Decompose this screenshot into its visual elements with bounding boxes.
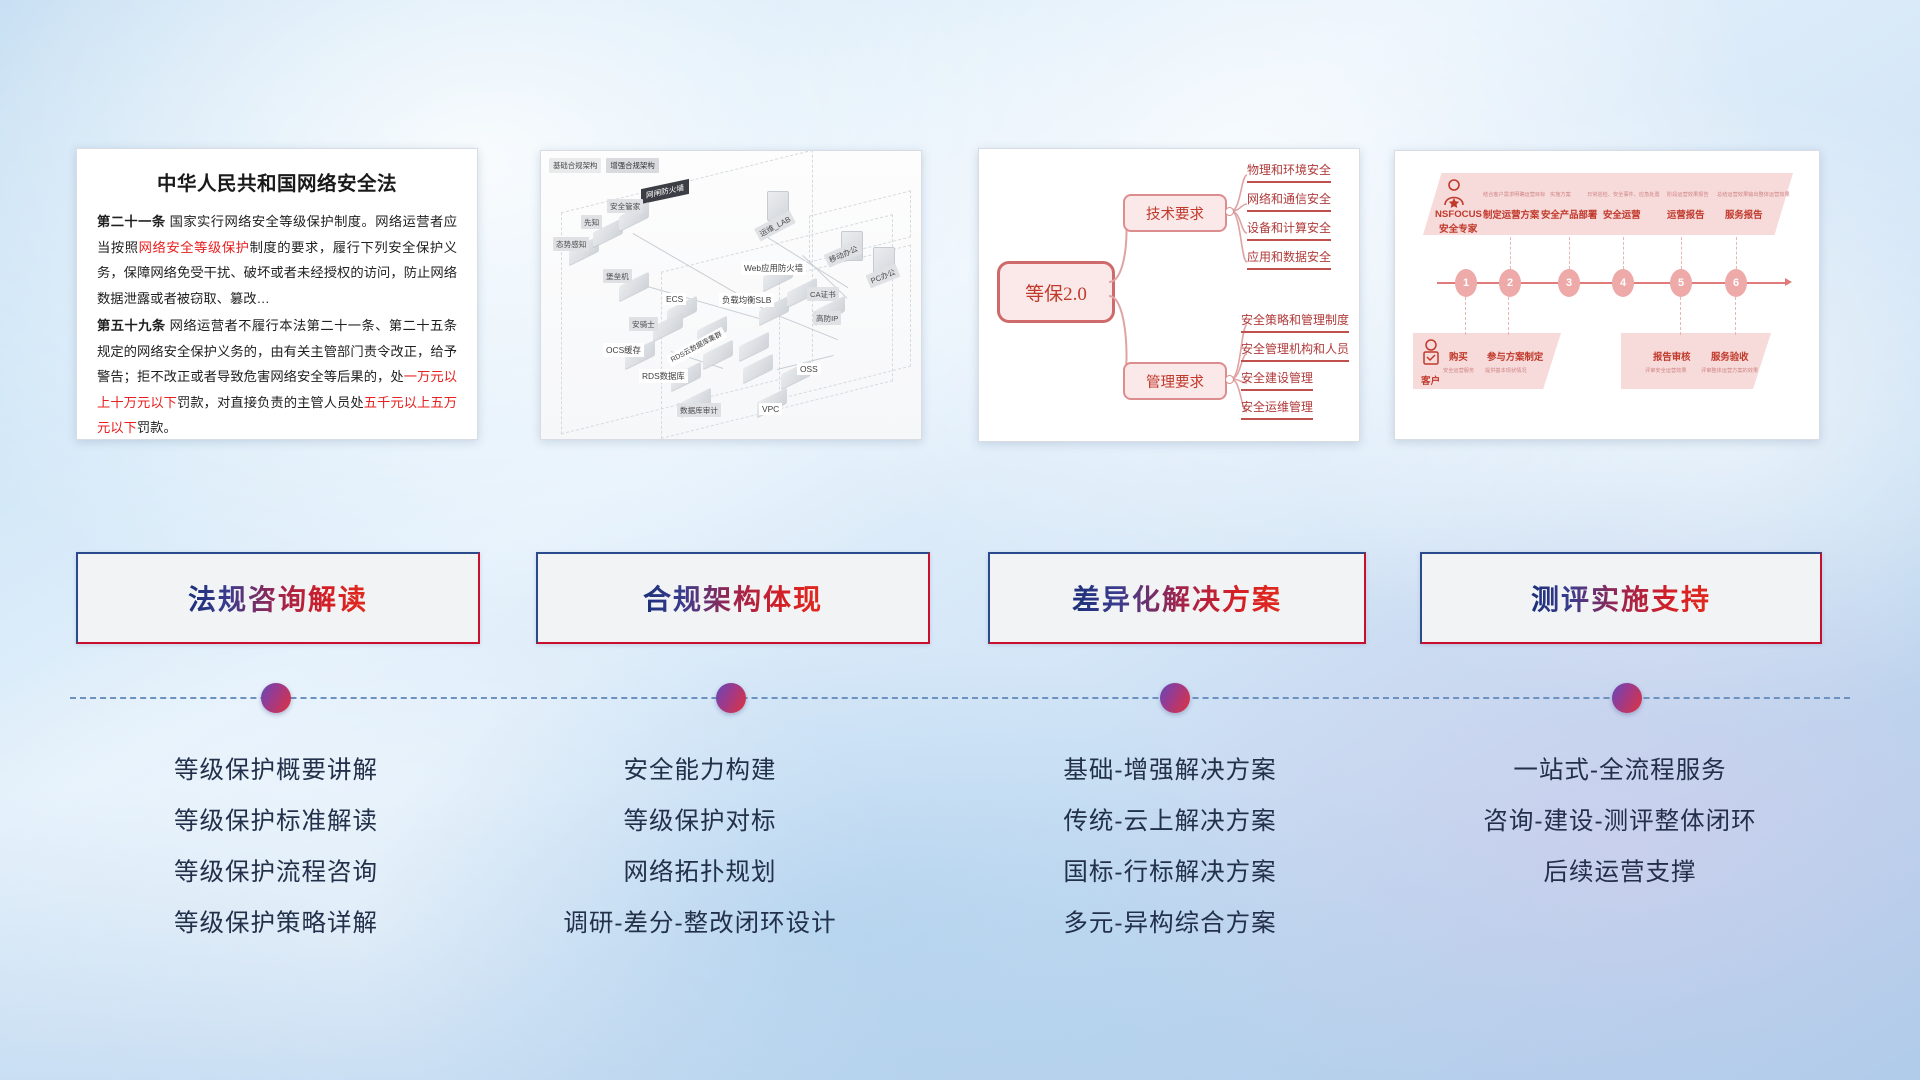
section-title-row: 法规咨询解读 合规架构体现 差异化解决方案 测评实施支持 — [0, 552, 1920, 644]
architecture-label-highdef-ip: 高防IP — [813, 311, 841, 325]
architecture-node-cluster-b — [703, 347, 733, 366]
list-item: 网络拓扑规划 — [470, 847, 930, 898]
mindmap-collapse-dot-technical[interactable] — [1225, 207, 1234, 216]
top-item-5-label: 服务报告 — [1725, 207, 1763, 221]
top-item-3-sub: 日常巡检、安全事件、应急处置 — [1587, 191, 1660, 198]
law-title: 中华人民共和国网络安全法 — [97, 167, 457, 196]
top-item-2-label: 安全产品部署 — [1541, 207, 1597, 221]
mindmap-leaf-ops-mgmt: 安全运维管理 — [1241, 398, 1313, 420]
timeline-step-1[interactable]: 1 — [1455, 269, 1477, 297]
section-title-box-4[interactable]: 测评实施支持 — [1420, 552, 1822, 644]
nsfocus-timeline: NSFOCUS 安全专家 客户 1 2 3 4 5 6 — [1395, 151, 1819, 439]
timeline-arrow-head — [1785, 278, 1792, 286]
expert-role-line2: 安全专家 — [1439, 221, 1477, 235]
list-item: 一站式-全流程服务 — [1400, 745, 1840, 796]
timeline-dash-3 — [1569, 237, 1570, 269]
timeline-marker-1[interactable] — [261, 683, 291, 713]
section-items-row: 等级保护概要讲解 等级保护标准解读 等级保护流程咨询 等级保护策略详解 安全能力… — [0, 745, 1920, 1045]
bottom-item-4-label: 服务验收 — [1711, 349, 1749, 363]
timeline-dash-b6 — [1735, 297, 1736, 335]
architecture-tab-basic[interactable]: 基础合规架构 — [549, 158, 601, 173]
timeline-step-5[interactable]: 5 — [1670, 269, 1692, 297]
top-item-4-sub: 阶段运营效果报告 — [1667, 191, 1709, 198]
section-title-4: 测评实施支持 — [1531, 578, 1711, 618]
architecture-label-situational: 态势感知 — [553, 237, 589, 251]
mindmap-leaf-network-comm: 网络和通信安全 — [1247, 190, 1331, 212]
mindmap-leaf-policy-system: 安全策略和管理制度 — [1241, 311, 1349, 333]
top-item-1-sub: 结合客户需求明确运营目标 — [1483, 191, 1545, 198]
card-cybersecurity-law[interactable]: 中华人民共和国网络安全法 第二十一条 国家实行网络安全等级保护制度。网络运营者应… — [76, 148, 478, 440]
list-item: 基础-增强解决方案 — [940, 745, 1400, 796]
list-item: 安全能力构建 — [470, 745, 930, 796]
law-paragraph-21: 第二十一条 国家实行网络安全等级保护制度。网络运营者应当按照网络安全等级保护制度… — [97, 209, 457, 311]
law-article-59-label: 第五十九条 — [97, 318, 166, 333]
timeline-dash-5 — [1681, 237, 1682, 269]
timeline-dash-b2 — [1508, 297, 1509, 335]
bottom-item-2-label: 参与方案制定 — [1487, 349, 1543, 363]
list-item: 后续运营支撑 — [1400, 847, 1840, 898]
bottom-item-1-label: 购买 — [1449, 349, 1468, 363]
architecture-diagram: 基础合规架构 增强合规架构 网闸防火墙 — [541, 151, 921, 439]
architecture-label-ecs: ECS — [663, 293, 686, 305]
law-59-run-4: 罚款。 — [137, 420, 177, 435]
section-title-3: 差异化解决方案 — [1072, 578, 1282, 618]
bottom-item-3-sub: 评审安全运营效果 — [1645, 367, 1687, 374]
architecture-label-oss: OSS — [797, 363, 821, 375]
bottom-item-2-sub: 提供基本现状情况 — [1485, 367, 1527, 374]
top-item-5-sub: 总结运营效果输出整体运营效果 — [1717, 191, 1790, 198]
mindmap-leaf-app-data: 应用和数据安全 — [1247, 248, 1331, 270]
timeline-marker-4[interactable] — [1612, 683, 1642, 713]
architecture-node-cluster-c — [739, 339, 769, 358]
timeline-step-4[interactable]: 4 — [1612, 269, 1634, 297]
timeline-step-2[interactable]: 2 — [1499, 269, 1521, 297]
top-item-2-sub: 实施方案 — [1550, 191, 1571, 198]
architecture-label-ca: CA证书 — [807, 287, 839, 301]
mindmap: 等保2.0 技术要求 管理要求 物理和环境安全 网络和通信安全 设备和计算安全 … — [979, 149, 1359, 441]
bottom-item-3-label: 报告审核 — [1653, 349, 1691, 363]
mindmap-collapse-dot-management[interactable] — [1225, 375, 1234, 384]
list-item: 等级保护标准解读 — [76, 796, 476, 847]
section-items-col-2: 安全能力构建 等级保护对标 网络拓扑规划 调研-差分-整改闭环设计 — [470, 745, 930, 949]
bottom-item-4-sub: 评审整体运营方案的效果 — [1701, 367, 1758, 374]
section-title-box-1[interactable]: 法规咨询解读 — [76, 552, 480, 644]
architecture-tab-enhanced[interactable]: 增强合规架构 — [606, 158, 658, 173]
section-title-1: 法规咨询解读 — [188, 578, 368, 618]
card-nsfocus-service-timeline[interactable]: NSFOCUS 安全专家 客户 1 2 3 4 5 6 — [1394, 150, 1820, 440]
timeline-dash-b1 — [1465, 297, 1466, 335]
list-item: 等级保护流程咨询 — [76, 847, 476, 898]
nsfocus-expert-band — [1423, 173, 1793, 235]
expert-person-icon — [1441, 179, 1467, 209]
top-item-4-label: 运营报告 — [1667, 207, 1705, 221]
law-21-run-1-highlight: 网络安全等级保护 — [139, 240, 250, 255]
mindmap-branch-management: 管理要求 — [1123, 362, 1227, 400]
timeline-step-3[interactable]: 3 — [1558, 269, 1580, 297]
mindmap-leaf-build-mgmt: 安全建设管理 — [1241, 369, 1313, 391]
top-item-1-label: 制定运营方案 — [1483, 207, 1539, 221]
list-item: 等级保护概要讲解 — [76, 745, 476, 796]
timeline-dash-2 — [1510, 237, 1511, 269]
list-item: 等级保护策略详解 — [76, 898, 476, 949]
architecture-label-db-audit: 数据库审计 — [677, 403, 721, 417]
section-title-2: 合规架构体现 — [643, 578, 823, 618]
list-item: 国标-行标解决方案 — [940, 847, 1400, 898]
timeline-marker-3[interactable] — [1160, 683, 1190, 713]
mindmap-leaf-physical-env: 物理和环境安全 — [1247, 161, 1331, 183]
bottom-item-1-sub: 安全运营服务 — [1443, 367, 1474, 374]
progress-timeline-line — [70, 697, 1850, 701]
list-item: 调研-差分-整改闭环设计 — [470, 898, 930, 949]
customer-person-icon — [1419, 339, 1443, 373]
top-item-3-label: 安全运营 — [1603, 207, 1641, 221]
architecture-label-bastion: 堡垒机 — [603, 269, 632, 283]
architecture-tab-group[interactable]: 基础合规架构 增强合规架构 — [549, 158, 659, 173]
architecture-label-aqs: 安骑士 — [629, 317, 658, 331]
timeline-dash-4 — [1623, 237, 1624, 269]
timeline-dash-6 — [1736, 237, 1737, 269]
section-title-box-3[interactable]: 差异化解决方案 — [988, 552, 1366, 644]
architecture-label-waf: Web应用防火墙 — [741, 261, 806, 275]
mindmap-leaf-device-compute: 设备和计算安全 — [1247, 219, 1331, 241]
list-item: 等级保护对标 — [470, 796, 930, 847]
list-item: 多元-异构综合方案 — [940, 898, 1400, 949]
architecture-node-cluster-d — [743, 361, 773, 380]
law-paragraph-59: 第五十九条 网络运营者不履行本法第二十一条、第二十五条规定的网络安全保护义务的，… — [97, 313, 457, 440]
architecture-label-butler: 安全管家 — [607, 199, 643, 213]
section-items-col-3: 基础-增强解决方案 传统-云上解决方案 国标-行标解决方案 多元-异构综合方案 — [940, 745, 1400, 949]
architecture-label-ocs: OCS缓存 — [603, 343, 644, 357]
list-item: 传统-云上解决方案 — [940, 796, 1400, 847]
timeline-dash-b5 — [1680, 297, 1681, 335]
timeline-step-6[interactable]: 6 — [1725, 269, 1747, 297]
mindmap-leaf-org-personnel: 安全管理机构和人员 — [1241, 340, 1349, 362]
architecture-label-slb: 负载均衡SLB — [719, 293, 774, 307]
architecture-label-rds: RDS数据库 — [639, 369, 688, 383]
architecture-label-vpc: VPC — [759, 403, 782, 415]
cards-row: 中华人民共和国网络安全法 第二十一条 国家实行网络安全等级保护制度。网络运营者应… — [0, 148, 1920, 440]
customer-role-label: 客户 — [1421, 373, 1440, 387]
law-59-run-2: 罚款，对直接负责的主管人员处 — [177, 395, 364, 410]
law-article-21-label: 第二十一条 — [97, 214, 166, 229]
card-dengbao-mindmap[interactable]: 等保2.0 技术要求 管理要求 物理和环境安全 网络和通信安全 设备和计算安全 … — [978, 148, 1360, 442]
expert-role-line1: NSFOCUS — [1435, 209, 1482, 220]
law-content: 中华人民共和国网络安全法 第二十一条 国家实行网络安全等级保护制度。网络运营者应… — [77, 149, 477, 439]
section-items-col-1: 等级保护概要讲解 等级保护标准解读 等级保护流程咨询 等级保护策略详解 — [76, 745, 476, 949]
section-items-col-4: 一站式-全流程服务 咨询-建设-测评整体闭环 后续运营支撑 — [1400, 745, 1840, 898]
card-compliance-architecture[interactable]: 基础合规架构 增强合规架构 网闸防火墙 — [540, 150, 922, 440]
list-item: 咨询-建设-测评整体闭环 — [1400, 796, 1840, 847]
mindmap-branch-technical: 技术要求 — [1123, 194, 1227, 232]
architecture-label-foreknow: 先知 — [581, 215, 602, 229]
section-title-box-2[interactable]: 合规架构体现 — [536, 552, 930, 644]
timeline-marker-2[interactable] — [716, 683, 746, 713]
